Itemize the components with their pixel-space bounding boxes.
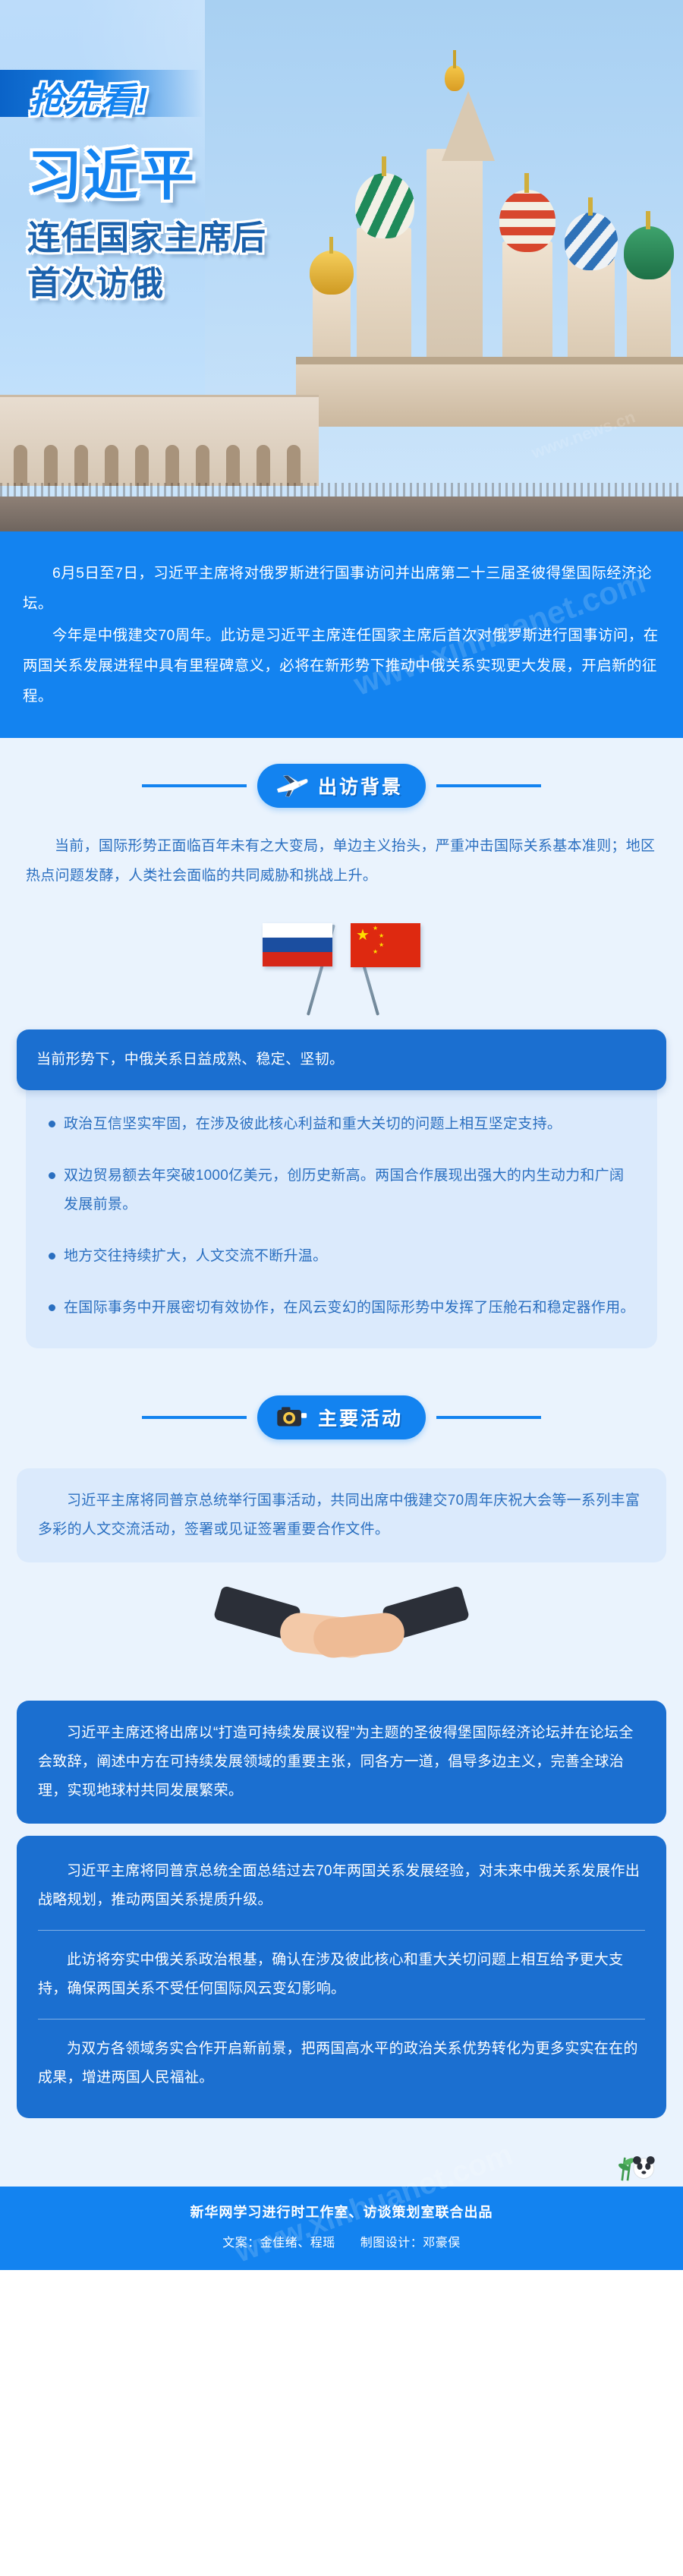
russia-china-flags-icon: ★ ★ ★ ★ ★	[243, 911, 440, 1017]
outcome-row: 此访将夯实中俄关系政治根基，确认在涉及彼此核心和重大关切问题上相互给予更大支持，…	[38, 1931, 645, 2019]
background-paragraph-wrap: 当前，国际形势正面临百年未有之大变局，单边主义抬头，严重冲击国际关系基本准则；地…	[0, 825, 683, 903]
gum-building	[0, 395, 319, 486]
activities-paragraph-1: 习近平主席将同普京总统举行国事活动，共同出席中俄建交70周年庆祝大会等一系列丰富…	[38, 1487, 645, 1544]
divider-right	[436, 1416, 541, 1419]
list-item: 双边贸易额去年突破1000亿美元，创历史新高。两国合作展现出强大的内生动力和广阔…	[46, 1162, 637, 1219]
activities-panel-1: 习近平主席将同普京总统举行国事活动，共同出席中俄建交70周年庆祝大会等一系列丰富…	[17, 1468, 666, 1562]
red-square-pavement	[0, 497, 683, 531]
card-bullet-body: 政治互信坚实牢固，在涉及彼此核心利益和重大关切的问题上相互坚定支持。 双边贸易额…	[26, 1080, 657, 1348]
intro-block: 6月5日至7日，习近平主席将对俄罗斯进行国事访问并出席第二十三届圣彼得堡国际经济…	[0, 531, 683, 738]
divider-right	[436, 784, 541, 787]
background-bullet-list: 政治互信坚实牢固，在涉及彼此核心利益和重大关切的问题上相互坚定支持。 双边贸易额…	[46, 1110, 637, 1323]
divider-left	[142, 784, 247, 787]
page-title: 习近平	[27, 149, 196, 203]
intro-paragraph-1: 6月5日至7日，习近平主席将对俄罗斯进行国事访问并出席第二十三届圣彼得堡国际经济…	[23, 559, 660, 620]
activities-paragraph-2: 习近平主席还将出席以“打造可持续发展议程”为主题的圣彼得堡国际经济论坛并在论坛全…	[38, 1719, 645, 1805]
flags-illustration: ★ ★ ★ ★ ★	[0, 906, 683, 1020]
page-subtitle-line-1: 连任国家主席后	[27, 222, 266, 255]
panda-bamboo-icon	[618, 2144, 662, 2182]
flash-label: 抢先看!	[29, 73, 148, 123]
airplane-icon	[274, 772, 309, 799]
infographic-page: 抢先看! 习近平 连任国家主席后 首次访俄 www.news.cn 6月5日至7…	[0, 0, 683, 2270]
outcome-row: 习近平主席将同普京总统全面总结过去70年两国关系发展经验，对未来中俄关系发展作出…	[38, 1842, 645, 1931]
card-headline: 当前形势下，中俄关系日益成熟、稳定、坚韧。	[17, 1029, 666, 1090]
list-item: 在国际事务中开展密切有效协作，在风云变幻的国际形势中发挥了压舱石和稳定器作用。	[46, 1294, 637, 1323]
hero-banner: 抢先看! 习近平 连任国家主席后 首次访俄 www.news.cn	[0, 0, 683, 531]
footer-credit: 新华网学习进行时工作室、访谈策划室联合出品	[0, 2202, 683, 2221]
section-header-activities: 主要活动	[0, 1362, 683, 1456]
background-card: 当前形势下，中俄关系日益成熟、稳定、坚韧。 政治互信坚实牢固，在涉及彼此核心利益…	[17, 1029, 666, 1348]
footer-decoration	[0, 2130, 683, 2187]
section-header-background: 出访背景	[0, 738, 683, 825]
footer-designer-label: 制图设计：邓豪俣	[360, 2237, 461, 2250]
activities-panel-2: 习近平主席还将出席以“打造可持续发展议程”为主题的圣彼得堡国际经济论坛并在论坛全…	[17, 1701, 666, 1824]
camera-icon	[274, 1404, 309, 1431]
list-item: 地方交往持续扩大，人文交流不断升温。	[46, 1242, 637, 1271]
section-badge-activities: 主要活动	[257, 1395, 426, 1439]
divider-left	[142, 1416, 247, 1419]
handshake-illustration	[0, 1575, 683, 1688]
page-footer: 新华网学习进行时工作室、访谈策划室联合出品 文案：金佳绪、程瑶 制图设计：邓豪俣…	[0, 2187, 683, 2270]
footer-author-label: 文案：金佳绪、程瑶	[222, 2237, 335, 2250]
outcomes-panel: 习近平主席将同普京总统全面总结过去70年两国关系发展经验，对未来中俄关系发展作出…	[17, 1836, 666, 2118]
background-paragraph: 当前，国际形势正面临百年未有之大变局，单边主义抬头，严重冲击国际关系基本准则；地…	[26, 832, 657, 891]
footer-authors: 文案：金佳绪、程瑶 制图设计：邓豪俣	[0, 2232, 683, 2250]
outcome-row: 为双方各领域务实合作开启新前景，把两国高水平的政治关系优势转化为更多实实在在的成…	[38, 2019, 645, 2108]
handshake-icon	[216, 1582, 467, 1681]
section-badge-label: 主要活动	[318, 1404, 403, 1431]
intro-paragraph-2: 今年是中俄建交70周年。此访是习近平主席连任国家主席后首次对俄罗斯进行国事访问，…	[23, 621, 660, 712]
list-item: 政治互信坚实牢固，在涉及彼此核心利益和重大关切的问题上相互坚定支持。	[46, 1110, 637, 1139]
page-subtitle-line-2: 首次访俄	[27, 267, 164, 301]
section-badge-background: 出访背景	[257, 764, 426, 808]
section-badge-label: 出访背景	[318, 772, 403, 799]
